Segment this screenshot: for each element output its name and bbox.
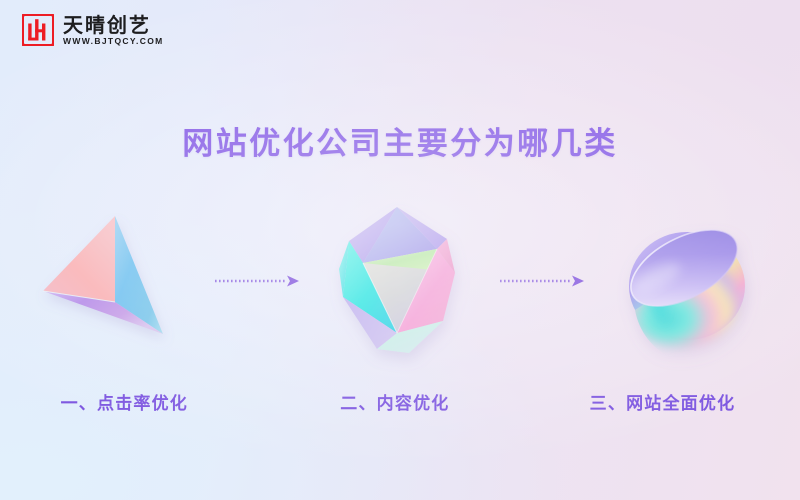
step-1-caption: 一、点击率优化 [0,389,258,414]
dotted-arrow-right-icon [498,273,588,289]
connector-arrow-1 [210,271,305,291]
hemisphere-bowl-3d-icon [605,206,765,356]
step-3-caption: 三、网站全面优化 [529,389,796,414]
tianqing-logo-icon [22,14,54,46]
slide-canvas: 天晴创艺 WWW.BJTQCY.COM 网站优化公司主要分为哪几类 [0,0,800,500]
brand-website: WWW.BJTQCY.COM [63,37,164,46]
brand-name: 天晴创艺 [63,15,164,36]
tetrahedron-3d-icon [35,206,195,356]
step-3-shape [590,196,780,366]
step-1-shape [20,196,210,366]
step-2-shape [305,196,495,366]
step-captions-row: 一、点击率优化 二、内容优化 三、网站全面优化 [0,386,800,416]
dotted-arrow-right-icon [213,273,303,289]
steps-illustration-row [0,196,800,366]
brand-logo[interactable]: 天晴创艺 WWW.BJTQCY.COM [22,14,164,46]
page-title: 网站优化公司主要分为哪几类 [0,118,800,163]
step-2-caption: 二、内容优化 [262,389,529,414]
connector-arrow-2 [495,271,590,291]
icosahedron-3d-icon [325,201,475,361]
brand-logo-text: 天晴创艺 WWW.BJTQCY.COM [63,15,164,46]
